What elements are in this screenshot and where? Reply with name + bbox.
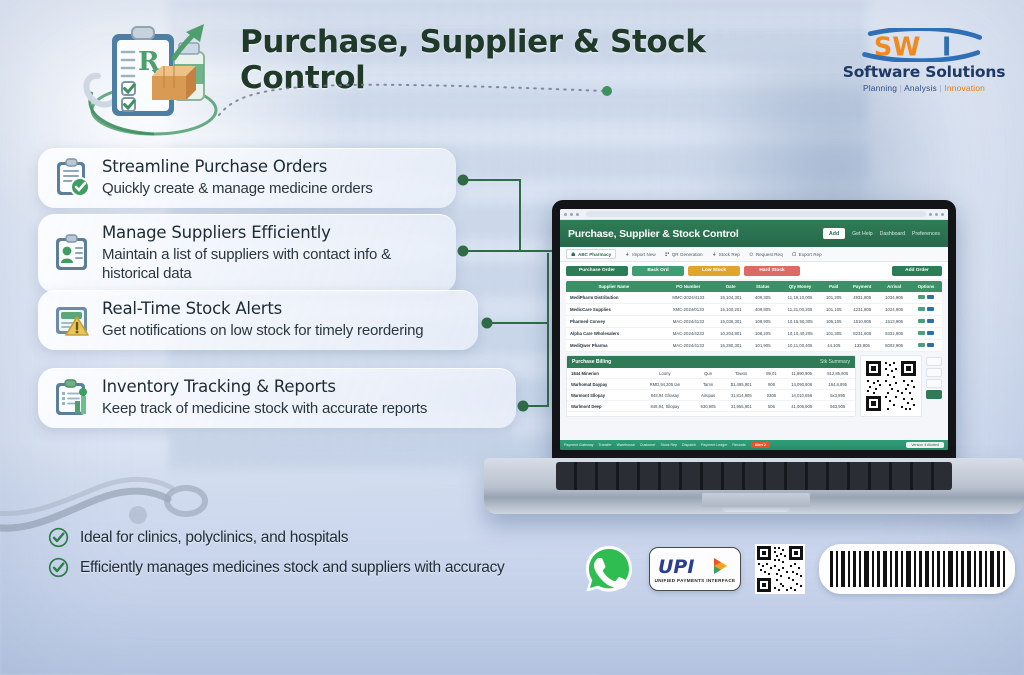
upi-logo-icon: UPI — [657, 555, 733, 577]
toolbar-label: Stock Rep — [719, 252, 740, 257]
status-item[interactable]: Stock Rep — [660, 443, 677, 447]
billing-cell: 41,005,905 — [783, 401, 820, 411]
cell-qty: 10,10,40,205 — [779, 328, 822, 339]
cell-date: 15,104,301 — [715, 292, 747, 303]
logo-company-name: Software Solutions — [842, 63, 1006, 81]
app-nav: Add Get Help Dashboard Preferences — [823, 228, 940, 239]
filter-low-stock[interactable]: Low Stock — [688, 266, 740, 276]
browser-reload-icon[interactable] — [576, 213, 579, 216]
svg-text:SW: SW — [874, 32, 921, 62]
billing-title: Purchase Billing — [572, 359, 611, 365]
qr-code-icon[interactable] — [755, 544, 805, 594]
list-item: Efficiently manages medicines stock and … — [48, 557, 588, 578]
bullet-text: Ideal for clinics, polyclinics, and hosp… — [80, 529, 348, 547]
laptop-keyboard — [556, 462, 952, 490]
billing-cell: $1,495,901 — [723, 379, 760, 389]
clipboard-user-icon — [51, 232, 93, 274]
filter-hard-stock[interactable]: Hard Stock — [744, 266, 800, 276]
billing-cell: 11,890,905 — [783, 368, 820, 378]
logo-tagline-analysis: Analysis — [904, 83, 937, 93]
logo-tagline-sep-1: | — [900, 83, 902, 93]
billing-cell: 848,94, Sllopay — [636, 401, 694, 411]
table-header-row: Supplier Name PO Number Date Status Qty … — [566, 281, 942, 292]
feature-title: Streamline Purchase Orders — [102, 157, 440, 178]
status-item[interactable]: Payment Ledger — [701, 443, 727, 447]
upi-badge[interactable]: UPI UNIFIED PAYMENTS INTERFACE — [649, 547, 741, 591]
cell-qty: 10,11,00,405 — [779, 340, 822, 351]
feature-desc: Keep track of medicine stock with accura… — [102, 399, 500, 418]
logo-mark: SW I — [842, 28, 1006, 62]
action-chip[interactable] — [918, 307, 925, 311]
nav-item-add[interactable]: Add — [823, 228, 845, 239]
nav-item-get-help[interactable]: Get Help — [852, 231, 872, 237]
close-icon[interactable] — [941, 213, 944, 216]
browser-address-bar[interactable] — [586, 211, 926, 217]
billing-cell: 848,94 Glrasay — [636, 390, 694, 400]
cell-status: 108,205 — [747, 328, 779, 339]
qr-code-icon — [864, 359, 918, 413]
poster-canvas: Rx Purchase, Supplier & Stock Control — [0, 0, 1024, 675]
toolbar-item-export[interactable]: Export Rep — [792, 252, 822, 257]
billing-cell: Qun — [694, 368, 723, 378]
cell-paid: 101,105 — [821, 304, 846, 315]
browser-chrome-bar — [560, 209, 948, 220]
supplier-table: Supplier Name PO Number Date Status Qty … — [560, 281, 948, 352]
billing-cell: 14,090,806 — [783, 379, 820, 389]
billing-cell: 812,85,905 — [820, 368, 855, 378]
logo-tagline-sep-2: | — [939, 83, 941, 93]
cell-arrival: 9331,905 — [878, 328, 910, 339]
lower-panels: Purchase Billing Stk Summary 1844 Mineri… — [560, 352, 948, 417]
feature-card-inventory-reports[interactable]: Inventory Tracking & Reports Keep track … — [38, 368, 516, 428]
action-chip[interactable] — [927, 319, 934, 323]
billing-cell: 14,010,856 — [783, 390, 820, 400]
cell-payment: 4931,805 — [846, 292, 878, 303]
cell-arrival: 1024,905 — [878, 304, 910, 315]
cell-date: 10,204,801 — [715, 328, 747, 339]
col-po-number[interactable]: PO Number — [662, 281, 715, 292]
col-date[interactable]: Date — [715, 281, 747, 292]
table-row[interactable]: Alpha Care Wholesalers MAC-2024/4233 10,… — [566, 328, 942, 340]
feature-card-stock-alerts[interactable]: Real-Time Stock Alerts Get notifications… — [38, 290, 478, 350]
toolbar-item-stock-rep[interactable]: Stock Rep — [712, 252, 740, 257]
billing-cell: 563,905 — [820, 401, 855, 411]
status-item[interactable]: Dispatch — [682, 443, 696, 447]
pharmacy-icon — [571, 252, 576, 257]
toolbar-label: Import New — [632, 252, 656, 257]
status-alert-badge[interactable]: Alert 2 — [751, 442, 770, 448]
download-icon — [625, 252, 630, 257]
svg-text:UPI: UPI — [658, 556, 694, 577]
svg-text:I: I — [942, 32, 952, 62]
cell-arrival: 6002,905 — [878, 340, 910, 351]
cell-options[interactable] — [910, 316, 942, 327]
billing-header: Purchase Billing Stk Summary — [567, 356, 855, 368]
cell-po: MAC-2024/4133 — [662, 340, 715, 351]
cell-paid: 105,105 — [821, 316, 846, 327]
billing-cell: 1844 Minerion — [567, 368, 636, 378]
billing-cell: 89,01 — [760, 368, 783, 378]
app-status-bar: Payment Gateway Transfer Warehouse Custo… — [560, 440, 948, 450]
cell-po: XMC-2024/0133 — [662, 304, 715, 315]
nav-item-preferences[interactable]: Preferences — [912, 231, 940, 237]
laptop-mockup: Purchase, Supplier & Stock Control Add G… — [484, 200, 1024, 540]
cell-supplier-name: Pharmed Convey — [566, 316, 662, 327]
nav-item-dashboard[interactable]: Dashboard — [880, 231, 905, 237]
col-supplier-name[interactable]: Supplier Name — [566, 281, 662, 292]
company-logo: SW I Software Solutions Planning | Analy… — [842, 28, 1006, 93]
logo-tagline-innovation: Innovation — [944, 83, 985, 93]
laptop-base — [484, 458, 1024, 514]
screen-side-actions — [926, 355, 942, 417]
cell-po: MMC-2024/4133 — [662, 292, 715, 303]
feature-desc: Maintain a list of suppliers with contac… — [102, 245, 440, 283]
cell-options[interactable] — [910, 328, 942, 339]
add-order-button[interactable]: Add Order — [892, 266, 942, 276]
col-payment[interactable]: Payment — [846, 281, 878, 292]
download-icon — [712, 252, 717, 257]
cell-payment: 1510,905 — [846, 316, 878, 327]
status-item[interactable]: Customer — [640, 443, 656, 447]
feature-desc: Quickly create & manage medicine orders — [102, 179, 440, 198]
cell-qty: 10,15,50,305 — [779, 316, 822, 327]
feature-title: Inventory Tracking & Reports — [102, 377, 500, 398]
stock-alert-warning-icon — [51, 299, 93, 341]
side-action-print[interactable] — [926, 357, 942, 366]
table-row[interactable]: Pharmed Convey MAC-2024/4133 15,036,301 … — [566, 316, 942, 328]
cell-payment: 4231,805 — [846, 304, 878, 315]
refresh-icon — [749, 252, 754, 257]
minimize-icon[interactable] — [929, 213, 932, 216]
billing-cell: 908 — [760, 379, 783, 389]
toolbar-item-qr[interactable]: QR Generation — [665, 252, 703, 257]
cell-status: 109,905 — [747, 316, 779, 327]
side-action-confirm[interactable] — [926, 390, 942, 399]
billing-cell: Tamn — [694, 379, 723, 389]
billing-row[interactable]: Warhomat Daypay RMD,94,305 tan Tamn $1,4… — [567, 379, 855, 390]
cell-supplier-name: Alpha Care Wholesalers — [566, 328, 662, 339]
status-item[interactable]: Payment Gateway — [564, 443, 593, 447]
feature-title: Real-Time Stock Alerts — [102, 299, 462, 320]
clipboard-chart-icon — [51, 377, 93, 419]
table-row[interactable]: MediQwer Pharma MAC-2024/4133 15,280,301… — [566, 340, 942, 352]
check-circle-icon — [48, 527, 69, 548]
col-qty-money[interactable]: Qty Money — [779, 281, 822, 292]
barcode-icon[interactable] — [819, 544, 1015, 594]
feature-card-suppliers[interactable]: Manage Suppliers Efficiently Maintain a … — [38, 214, 456, 293]
billing-cell: 31,955,901 — [723, 401, 760, 411]
app-title: Purchase, Supplier & Stock Control — [568, 228, 739, 240]
action-chip[interactable] — [927, 307, 934, 311]
toolbar-item-request[interactable]: Request Req — [749, 252, 783, 257]
browser-forward-icon[interactable] — [570, 213, 573, 216]
logo-tagline: Planning | Analysis | Innovation — [842, 83, 1006, 93]
cell-date: 15,036,301 — [715, 316, 747, 327]
cell-qty: 11,19,10,005 — [779, 292, 822, 303]
cell-status: 409,805 — [747, 304, 779, 315]
cell-date: 15,280,301 — [715, 340, 747, 351]
purchase-billing-panel: Purchase Billing Stk Summary 1844 Mineri… — [566, 355, 856, 417]
cell-payment: 133,905 — [846, 340, 878, 351]
screen-qr-code[interactable] — [860, 355, 922, 417]
col-arrival[interactable]: Arrival — [878, 281, 910, 292]
action-chip[interactable] — [918, 343, 925, 347]
action-chip[interactable] — [927, 331, 934, 335]
cell-paid: 44,105 — [821, 340, 846, 351]
cell-options[interactable] — [910, 304, 942, 315]
logo-tagline-planning: Planning — [863, 83, 897, 93]
billing-row[interactable]: Warmont Sllopay 848,94 Glrasay Airupas 3… — [567, 390, 855, 401]
billing-summary-label: Stk Summary — [820, 359, 850, 365]
cell-date: 15,100,201 — [715, 304, 747, 315]
cell-payment: 8231,605 — [846, 328, 878, 339]
billing-cell: 5x3,895 — [820, 390, 855, 400]
feature-desc: Get notifications on low stock for timel… — [102, 321, 462, 340]
toolbar-label: QR Generation — [672, 252, 703, 257]
side-action-refresh[interactable] — [926, 368, 942, 377]
status-item[interactable]: Records — [732, 443, 745, 447]
billing-cell: 164,8,895 — [820, 379, 855, 389]
cell-status: 409,305 — [747, 292, 779, 303]
upi-subtitle: UNIFIED PAYMENTS INTERFACE — [655, 578, 736, 583]
browser-window-controls[interactable] — [929, 213, 944, 216]
col-paid[interactable]: Paid — [821, 281, 846, 292]
browser-back-icon[interactable] — [564, 213, 567, 216]
toolbar-label: ABC Pharmacy — [578, 252, 611, 257]
action-chip[interactable] — [918, 295, 925, 299]
action-chip[interactable] — [918, 331, 925, 335]
col-options[interactable]: Options — [910, 281, 942, 292]
action-chip[interactable] — [927, 295, 934, 299]
billing-cell: Warlmont Deep — [567, 401, 636, 411]
check-circle-icon — [48, 557, 69, 578]
toolbar-label: Request Req — [756, 252, 783, 257]
cell-paid: 101,205 — [821, 292, 846, 303]
billing-cell: RMD,94,305 tan — [636, 379, 694, 389]
app-header: Purchase, Supplier & Stock Control Add G… — [560, 220, 948, 247]
action-chip[interactable] — [918, 319, 925, 323]
filter-button-row: Purchase Order Back Ord Low Stock Hard S… — [560, 262, 948, 279]
whatsapp-icon[interactable] — [583, 543, 635, 595]
billing-row[interactable]: 1844 Minerion Loony Qun Tawon 89,01 11,8… — [567, 368, 855, 379]
cell-supplier-name: MediPharm Distribution — [566, 292, 662, 303]
billing-cell: 505 — [760, 401, 783, 411]
billing-cell: 31,814,905 — [723, 390, 760, 400]
col-status[interactable]: Status — [747, 281, 779, 292]
grid-icon — [665, 252, 670, 257]
billing-cell: Loony — [636, 368, 694, 378]
side-action-list[interactable] — [926, 379, 942, 388]
status-item[interactable]: Warehouse — [617, 443, 635, 447]
billing-row[interactable]: Warlmont Deep 848,94, Sllopay 930,905 31… — [567, 401, 855, 412]
maximize-icon[interactable] — [935, 213, 938, 216]
decorative-dotted-arc — [215, 75, 615, 120]
billing-cell: 930,905 — [694, 401, 723, 411]
feature-title: Manage Suppliers Efficiently — [102, 223, 440, 244]
cell-arrival: 1034,905 — [878, 292, 910, 303]
status-item[interactable]: Transfer — [598, 443, 611, 447]
status-version: Version 4 Allotted — [906, 442, 944, 448]
toolbar-item-import[interactable]: Import New — [625, 252, 656, 257]
toolbar-item-pharmacy[interactable]: ABC Pharmacy — [566, 249, 616, 259]
toolbar-label: Export Rep — [799, 252, 822, 257]
laptop-lid: Purchase, Supplier & Stock Control Add G… — [552, 200, 956, 462]
cell-options[interactable] — [910, 292, 942, 303]
table-row[interactable]: MedicCare Supplies XMC-2024/0133 15,100,… — [566, 304, 942, 316]
clipboard-check-icon — [51, 157, 93, 199]
laptop-trackpad — [702, 493, 810, 507]
rx-clipboard-pills-box-icon: Rx — [78, 18, 238, 138]
cell-supplier-name: MediQwer Pharma — [566, 340, 662, 351]
table-row[interactable]: MediPharm Distribution MMC-2024/4133 15,… — [566, 292, 942, 304]
cell-options[interactable] — [910, 340, 942, 351]
cell-po: MAC-2024/4233 — [662, 328, 715, 339]
app-toolbar: ABC Pharmacy Import New QR Generation — [560, 247, 948, 262]
cell-po: MAC-2024/4133 — [662, 316, 715, 327]
action-chip[interactable] — [927, 343, 934, 347]
feature-card-purchase-orders[interactable]: Streamline Purchase Orders Quickly creat… — [38, 148, 456, 208]
bullet-text: Efficiently manages medicines stock and … — [80, 559, 505, 577]
laptop-front-notch — [722, 507, 790, 512]
billing-cell: Warmont Sllopay — [567, 390, 636, 400]
cell-supplier-name: MedicCare Supplies — [566, 304, 662, 315]
cell-qty: 11,21,00,205 — [779, 304, 822, 315]
payment-methods-row: UPI UNIFIED PAYMENTS INTERFACE — [583, 543, 1015, 595]
filter-purchase-order[interactable]: Purchase Order — [566, 266, 628, 276]
billing-cell: Tawon — [723, 368, 760, 378]
export-icon — [792, 252, 797, 257]
billing-cell: 0305 — [760, 390, 783, 400]
laptop-screen: Purchase, Supplier & Stock Control Add G… — [560, 209, 948, 450]
cell-paid: 101,305 — [821, 328, 846, 339]
billing-cell: Warhomat Daypay — [567, 379, 636, 389]
billing-cell: Airupas — [694, 390, 723, 400]
cell-status: 101,905 — [747, 340, 779, 351]
filter-back-order[interactable]: Back Ord — [632, 266, 684, 276]
cell-arrival: 1513,905 — [878, 316, 910, 327]
